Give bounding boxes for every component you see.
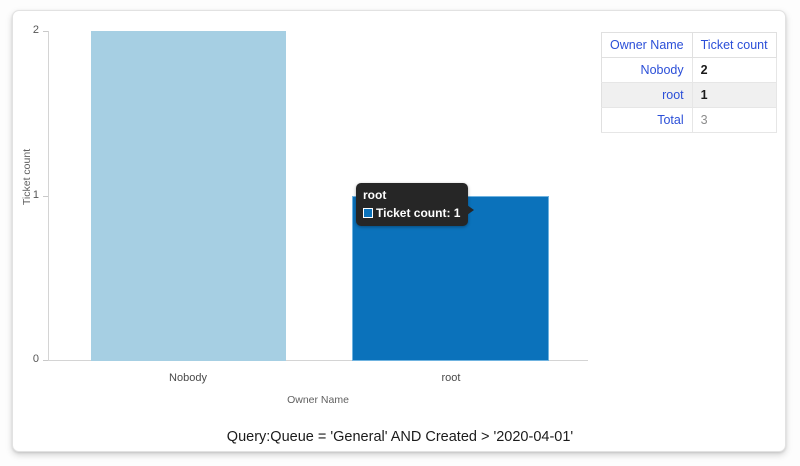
table-cell-owner-nobody[interactable]: Nobody (602, 58, 693, 83)
tooltip-title: root (363, 187, 460, 203)
table-header-owner-name[interactable]: Owner Name (602, 33, 693, 58)
y-tick-mark-1 (43, 196, 48, 197)
y-tick-label-0: 0 (13, 354, 39, 365)
table-header-ticket-count[interactable]: Ticket count (692, 33, 776, 58)
query-caption: Query:Queue = 'General' AND Created > '2… (13, 429, 786, 445)
x-axis-title: Owner Name (48, 394, 588, 406)
bar-nobody[interactable] (91, 31, 286, 361)
summary-table: Owner Name Ticket count Nobody 2 root 1 … (601, 32, 777, 133)
table-row[interactable]: root 1 (602, 83, 777, 108)
table-cell-owner-root[interactable]: root (602, 83, 693, 108)
x-tick-label-root: root (391, 372, 511, 384)
table-cell-owner-total: Total (602, 108, 693, 133)
legend-swatch-icon (363, 208, 373, 218)
y-tick-label-2: 2 (13, 25, 39, 36)
tooltip-pointer-icon (467, 205, 474, 215)
y-axis-title: Ticket count (21, 137, 33, 217)
tooltip-series-value: Ticket count: 1 (376, 205, 460, 221)
screenshot-canvas: 2 1 0 Ticket count Nobody root Owner Nam… (0, 0, 800, 466)
table-row-total: Total 3 (602, 108, 777, 133)
table-cell-count-total: 3 (692, 108, 776, 133)
table-cell-count-root: 1 (692, 83, 776, 108)
summary-table-body: Nobody 2 root 1 Total 3 (602, 58, 777, 133)
y-tick-mark-0 (43, 360, 48, 361)
y-axis-line (48, 31, 49, 361)
tooltip-series-row: Ticket count: 1 (363, 205, 460, 221)
summary-table-head: Owner Name Ticket count (602, 33, 777, 58)
table-row[interactable]: Nobody 2 (602, 58, 777, 83)
table-header-row: Owner Name Ticket count (602, 33, 777, 58)
chart-panel: 2 1 0 Ticket count Nobody root Owner Nam… (12, 10, 786, 452)
table-cell-count-nobody: 2 (692, 58, 776, 83)
x-tick-label-nobody: Nobody (128, 372, 248, 384)
chart-tooltip: root Ticket count: 1 (356, 183, 468, 226)
y-tick-mark-2 (43, 31, 48, 32)
